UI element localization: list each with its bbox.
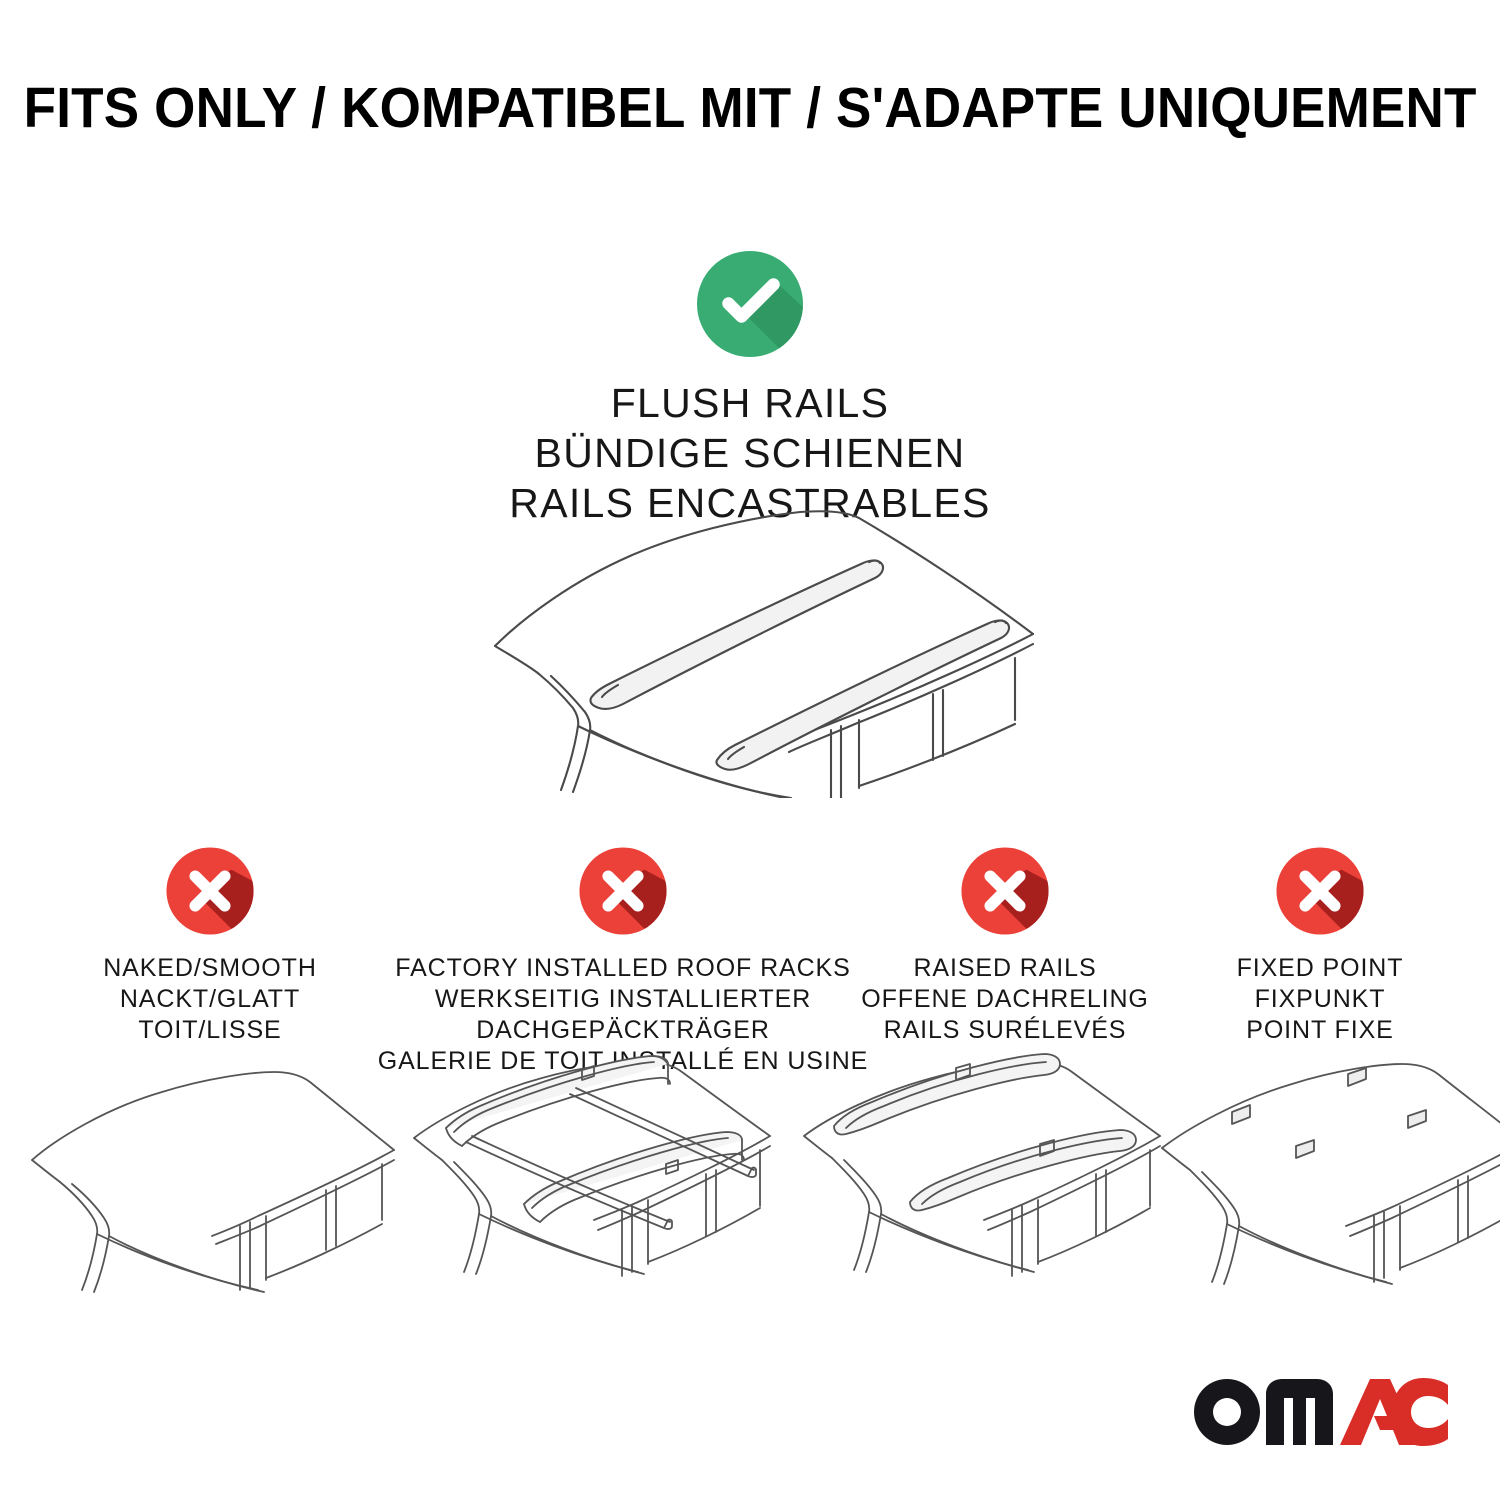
red-x-circle-icon — [959, 845, 1051, 937]
car-roof-raised-rails-illustration — [790, 1050, 1170, 1300]
rejected-label-en: RAISED RAILS — [861, 953, 1149, 984]
rejected-illustration-row — [0, 1050, 1500, 1300]
page-header: FITS ONLY / KOMPATIBEL MIT / S'ADAPTE UN… — [0, 0, 1500, 215]
red-x-circle-icon — [1274, 845, 1366, 937]
rejected-label-de: OFFENE DACHRELING — [861, 984, 1149, 1015]
rejected-label-de-2: DACHGEPÄCKTRÄGER — [378, 1015, 869, 1046]
rejected-column-factory-installed-roof-racks: FACTORY INSTALLED ROOF RACKS WERKSEITIG … — [398, 845, 848, 1077]
red-x-circle-icon — [164, 845, 256, 937]
rejected-label-de: NACKT/GLATT — [103, 984, 317, 1015]
approved-label-en: FLUSH RAILS — [509, 378, 990, 428]
rejected-column-raised-rails: RAISED RAILS OFFENE DACHRELING RAILS SUR… — [845, 845, 1165, 1046]
page-title: FITS ONLY / KOMPATIBEL MIT / S'ADAPTE UN… — [24, 75, 1477, 141]
rejected-column-naked-smooth: NAKED/SMOOTH NACKT/GLATT TOIT/LISSE — [40, 845, 380, 1046]
rejected-column-fixed-point: FIXED POINT FIXPUNKT POINT FIXE — [1175, 845, 1465, 1046]
omac-logo-letter-c — [1392, 1378, 1448, 1446]
rejected-fitment-section: NAKED/SMOOTH NACKT/GLATT TOIT/LISSE FACT — [0, 845, 1500, 1055]
approved-fitment-section: FLUSH RAILS BÜNDIGE SCHIENEN RAILS ENCAS… — [0, 248, 1500, 528]
red-x-circle-icon — [577, 845, 669, 937]
car-roof-with-flush-rails-illustration — [455, 498, 1055, 798]
rejected-label-group: RAISED RAILS OFFENE DACHRELING RAILS SUR… — [861, 953, 1149, 1046]
car-roof-naked-smooth-illustration — [22, 1050, 402, 1300]
rejected-label-group: NAKED/SMOOTH NACKT/GLATT TOIT/LISSE — [103, 953, 317, 1046]
rejected-label-en: NAKED/SMOOTH — [103, 953, 317, 984]
rejected-label-en: FACTORY INSTALLED ROOF RACKS — [378, 953, 869, 984]
rejected-label-fr: TOIT/LISSE — [103, 1015, 317, 1046]
rejected-label-de: FIXPUNKT — [1237, 984, 1404, 1015]
rejected-label-group: FIXED POINT FIXPUNKT POINT FIXE — [1237, 953, 1404, 1046]
omac-logo-letter-o — [1194, 1379, 1260, 1445]
rejected-label-fr: RAILS SURÉLEVÉS — [861, 1015, 1149, 1046]
omac-logo-letter-m — [1266, 1379, 1333, 1445]
car-roof-factory-racks-illustration — [400, 1050, 780, 1300]
green-check-circle-icon — [694, 248, 806, 360]
rejected-label-fr: POINT FIXE — [1237, 1015, 1404, 1046]
rejected-label-en: FIXED POINT — [1237, 953, 1404, 984]
omac-logo: OMAC — [1190, 1372, 1448, 1448]
car-roof-fixed-point-illustration — [1150, 1050, 1500, 1300]
rejected-label-de-1: WERKSEITIG INSTALLIERTER — [378, 984, 869, 1015]
approved-label-de: BÜNDIGE SCHIENEN — [509, 428, 990, 478]
